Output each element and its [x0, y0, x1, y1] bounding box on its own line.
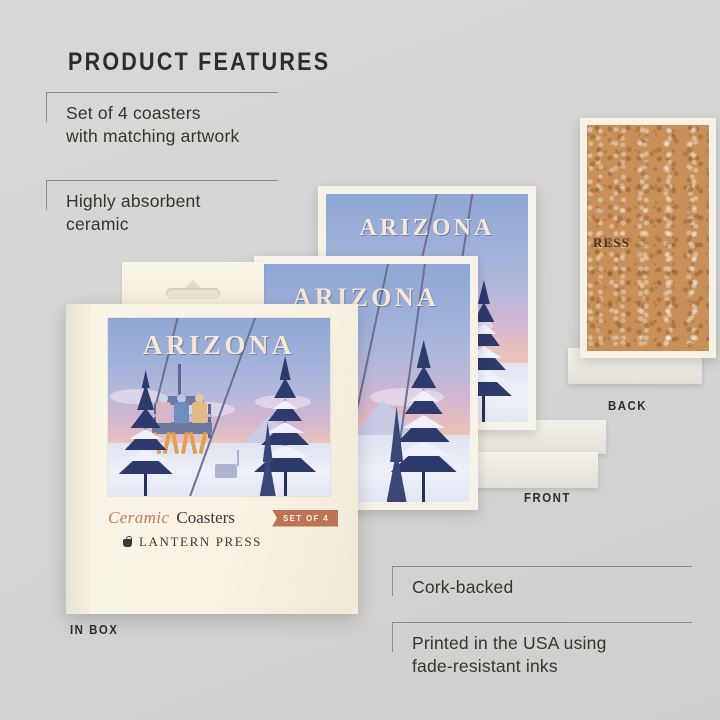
- feature-item: Printed in the USA using fade-resistant …: [392, 622, 692, 678]
- page-title: PRODUCT FEATURES: [68, 48, 330, 77]
- product-box: ARIZONA: [66, 262, 358, 614]
- tab-hang-slot: [166, 288, 220, 299]
- publisher-name: LANTERN PRESS: [139, 534, 262, 550]
- ceramic-script-text: Ceramic: [108, 508, 169, 528]
- pine-tree: [115, 370, 177, 496]
- ski-poster-artwork: ARIZONA: [108, 318, 330, 496]
- feature-item: Highly absorbent ceramic: [46, 180, 278, 236]
- coaster-back-tile: RESS: [580, 118, 716, 358]
- box-side-panel: [66, 304, 90, 614]
- feature-item: Cork-backed: [392, 566, 692, 599]
- cork-brand-text: RESS: [593, 235, 630, 251]
- feature-text: Highly absorbent ceramic: [66, 181, 278, 236]
- artwork-title-rear: ARIZONA: [326, 215, 528, 242]
- feature-tick: [392, 622, 393, 652]
- box-publisher-line: LANTERN PRESS: [122, 534, 262, 550]
- feature-text: Printed in the USA using fade-resistant …: [412, 623, 692, 678]
- caption-back: BACK: [608, 398, 647, 413]
- set-of-4-badge: SET OF 4: [272, 510, 338, 527]
- caption-front: FRONT: [524, 490, 571, 505]
- box-brand-line: Ceramic Coasters SET OF 4: [108, 508, 338, 528]
- caption-in-box: IN BOX: [70, 622, 118, 637]
- feature-text: Set of 4 coasters with matching artwork: [66, 93, 278, 148]
- feature-tick: [46, 92, 47, 122]
- box-hang-tab: [122, 262, 264, 310]
- pine-tree: [259, 422, 277, 496]
- pine-tree: [386, 406, 408, 502]
- lantern-icon: [122, 536, 133, 549]
- feature-item: Set of 4 coasters with matching artwork: [46, 92, 278, 148]
- ski: [199, 432, 208, 454]
- infographic-canvas: PRODUCT FEATURES RESS ARIZONA: [0, 0, 720, 720]
- ski: [189, 432, 197, 454]
- skier-body: [192, 402, 207, 423]
- feature-tick: [46, 180, 47, 210]
- coasters-text: Coasters: [176, 508, 235, 528]
- feature-tick: [392, 566, 393, 596]
- ski: [181, 432, 189, 454]
- cork-surface: RESS: [587, 125, 709, 351]
- box-artwork-window: ARIZONA: [108, 318, 330, 496]
- feature-text: Cork-backed: [412, 567, 692, 599]
